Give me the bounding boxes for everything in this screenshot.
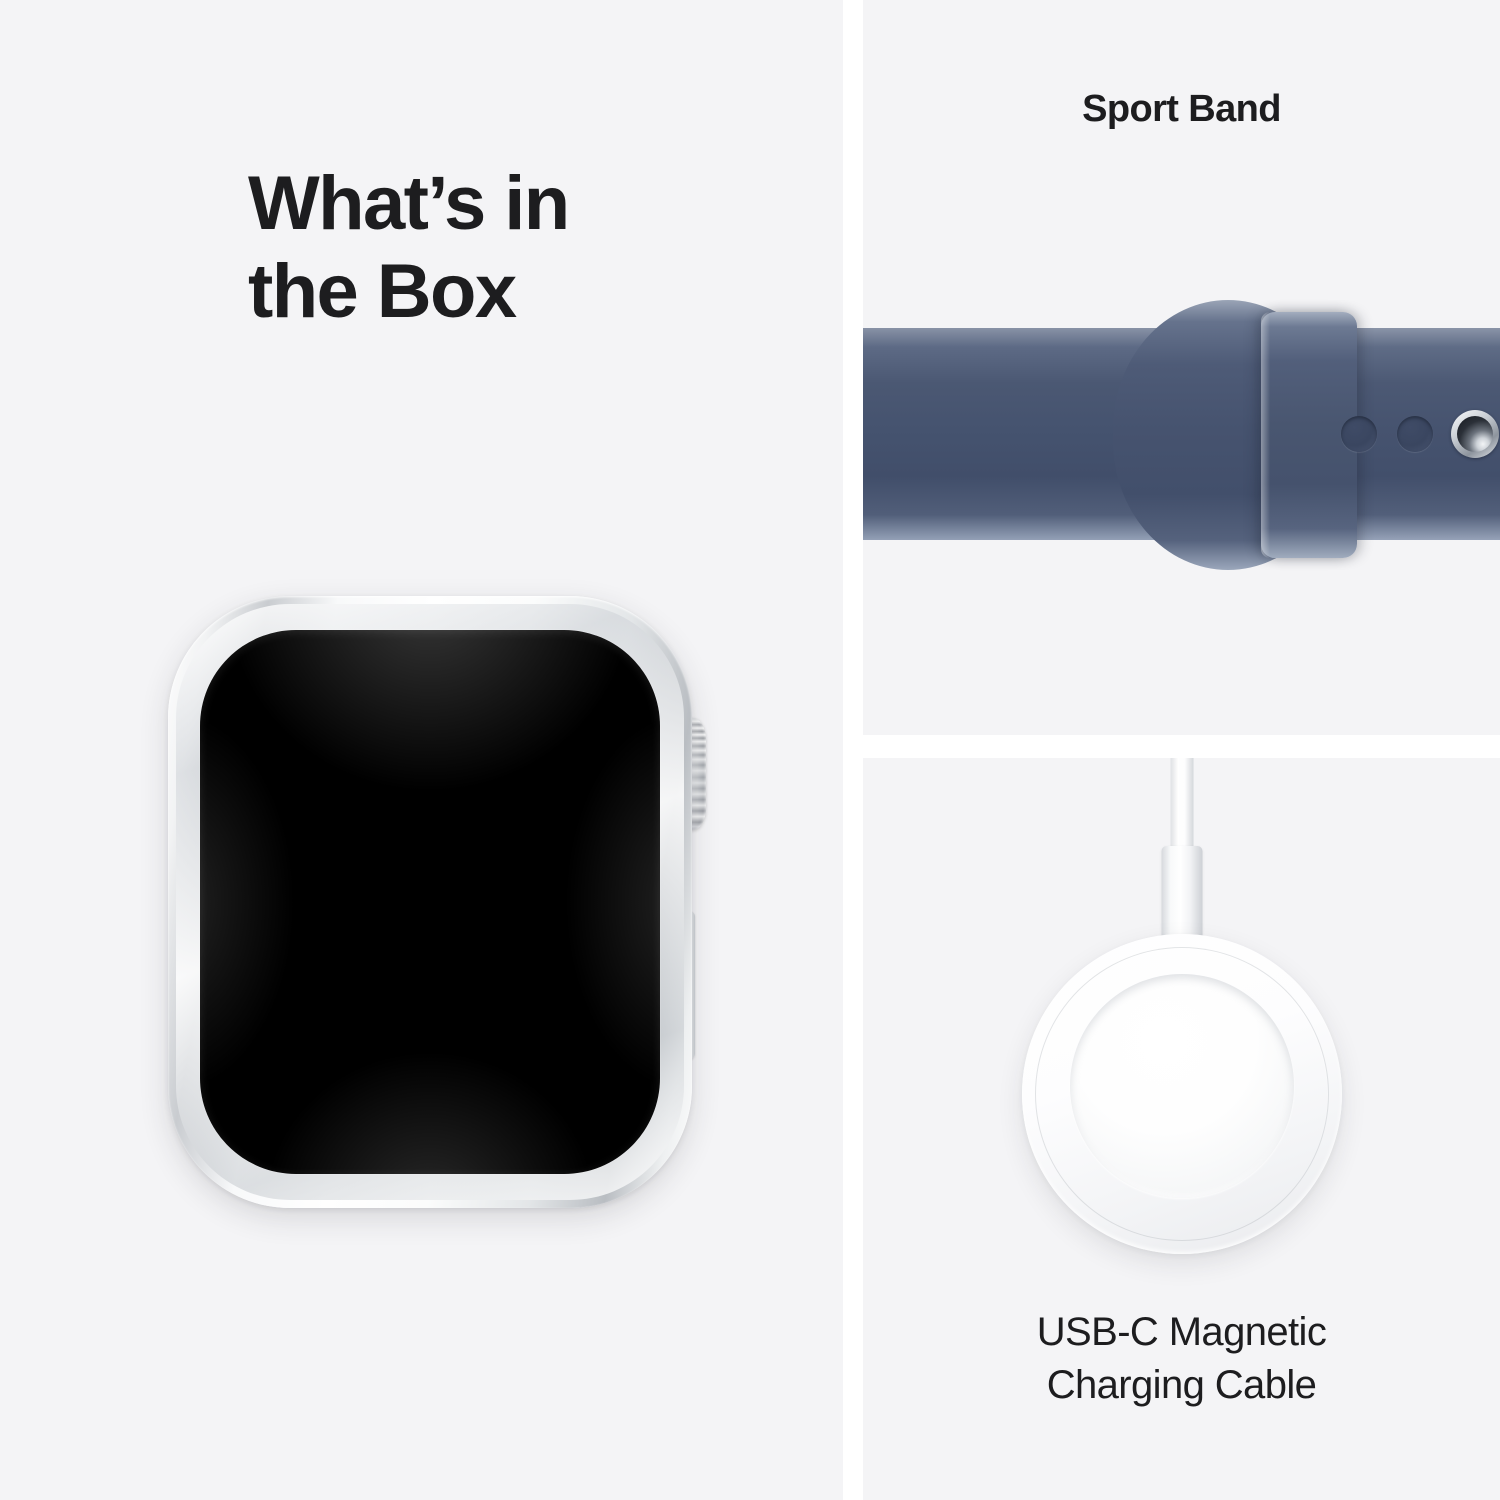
cable-cord (1170, 758, 1193, 853)
sport-band-panel: Sport Band (863, 0, 1500, 735)
whats-in-the-box-figure: What’s in the Box Sport Band (0, 0, 1500, 1500)
band-hole (1341, 416, 1377, 452)
charging-cable-caption-line-2: Charging Cable (863, 1359, 1500, 1412)
band-pin-hole (1451, 410, 1499, 458)
watch-display (200, 630, 660, 1174)
sport-band-caption: Sport Band (863, 88, 1500, 131)
charging-puck-dish (1070, 974, 1294, 1198)
watch-case (168, 596, 692, 1208)
charging-puck (1022, 934, 1342, 1254)
charging-cable-image (863, 758, 1500, 1318)
apple-watch-image (168, 596, 716, 1208)
page-title-line-1: What’s in (248, 160, 768, 248)
watch-panel: What’s in the Box (0, 0, 843, 1500)
page-title-line-2: the Box (248, 248, 768, 336)
sport-band-image (863, 292, 1500, 592)
charging-cable-caption: USB-C Magnetic Charging Cable (863, 1306, 1500, 1412)
band-hole (1397, 416, 1433, 452)
page-title: What’s in the Box (248, 160, 768, 336)
charging-cable-panel: USB-C Magnetic Charging Cable (863, 758, 1500, 1500)
charging-cable-caption-line-1: USB-C Magnetic (863, 1306, 1500, 1359)
